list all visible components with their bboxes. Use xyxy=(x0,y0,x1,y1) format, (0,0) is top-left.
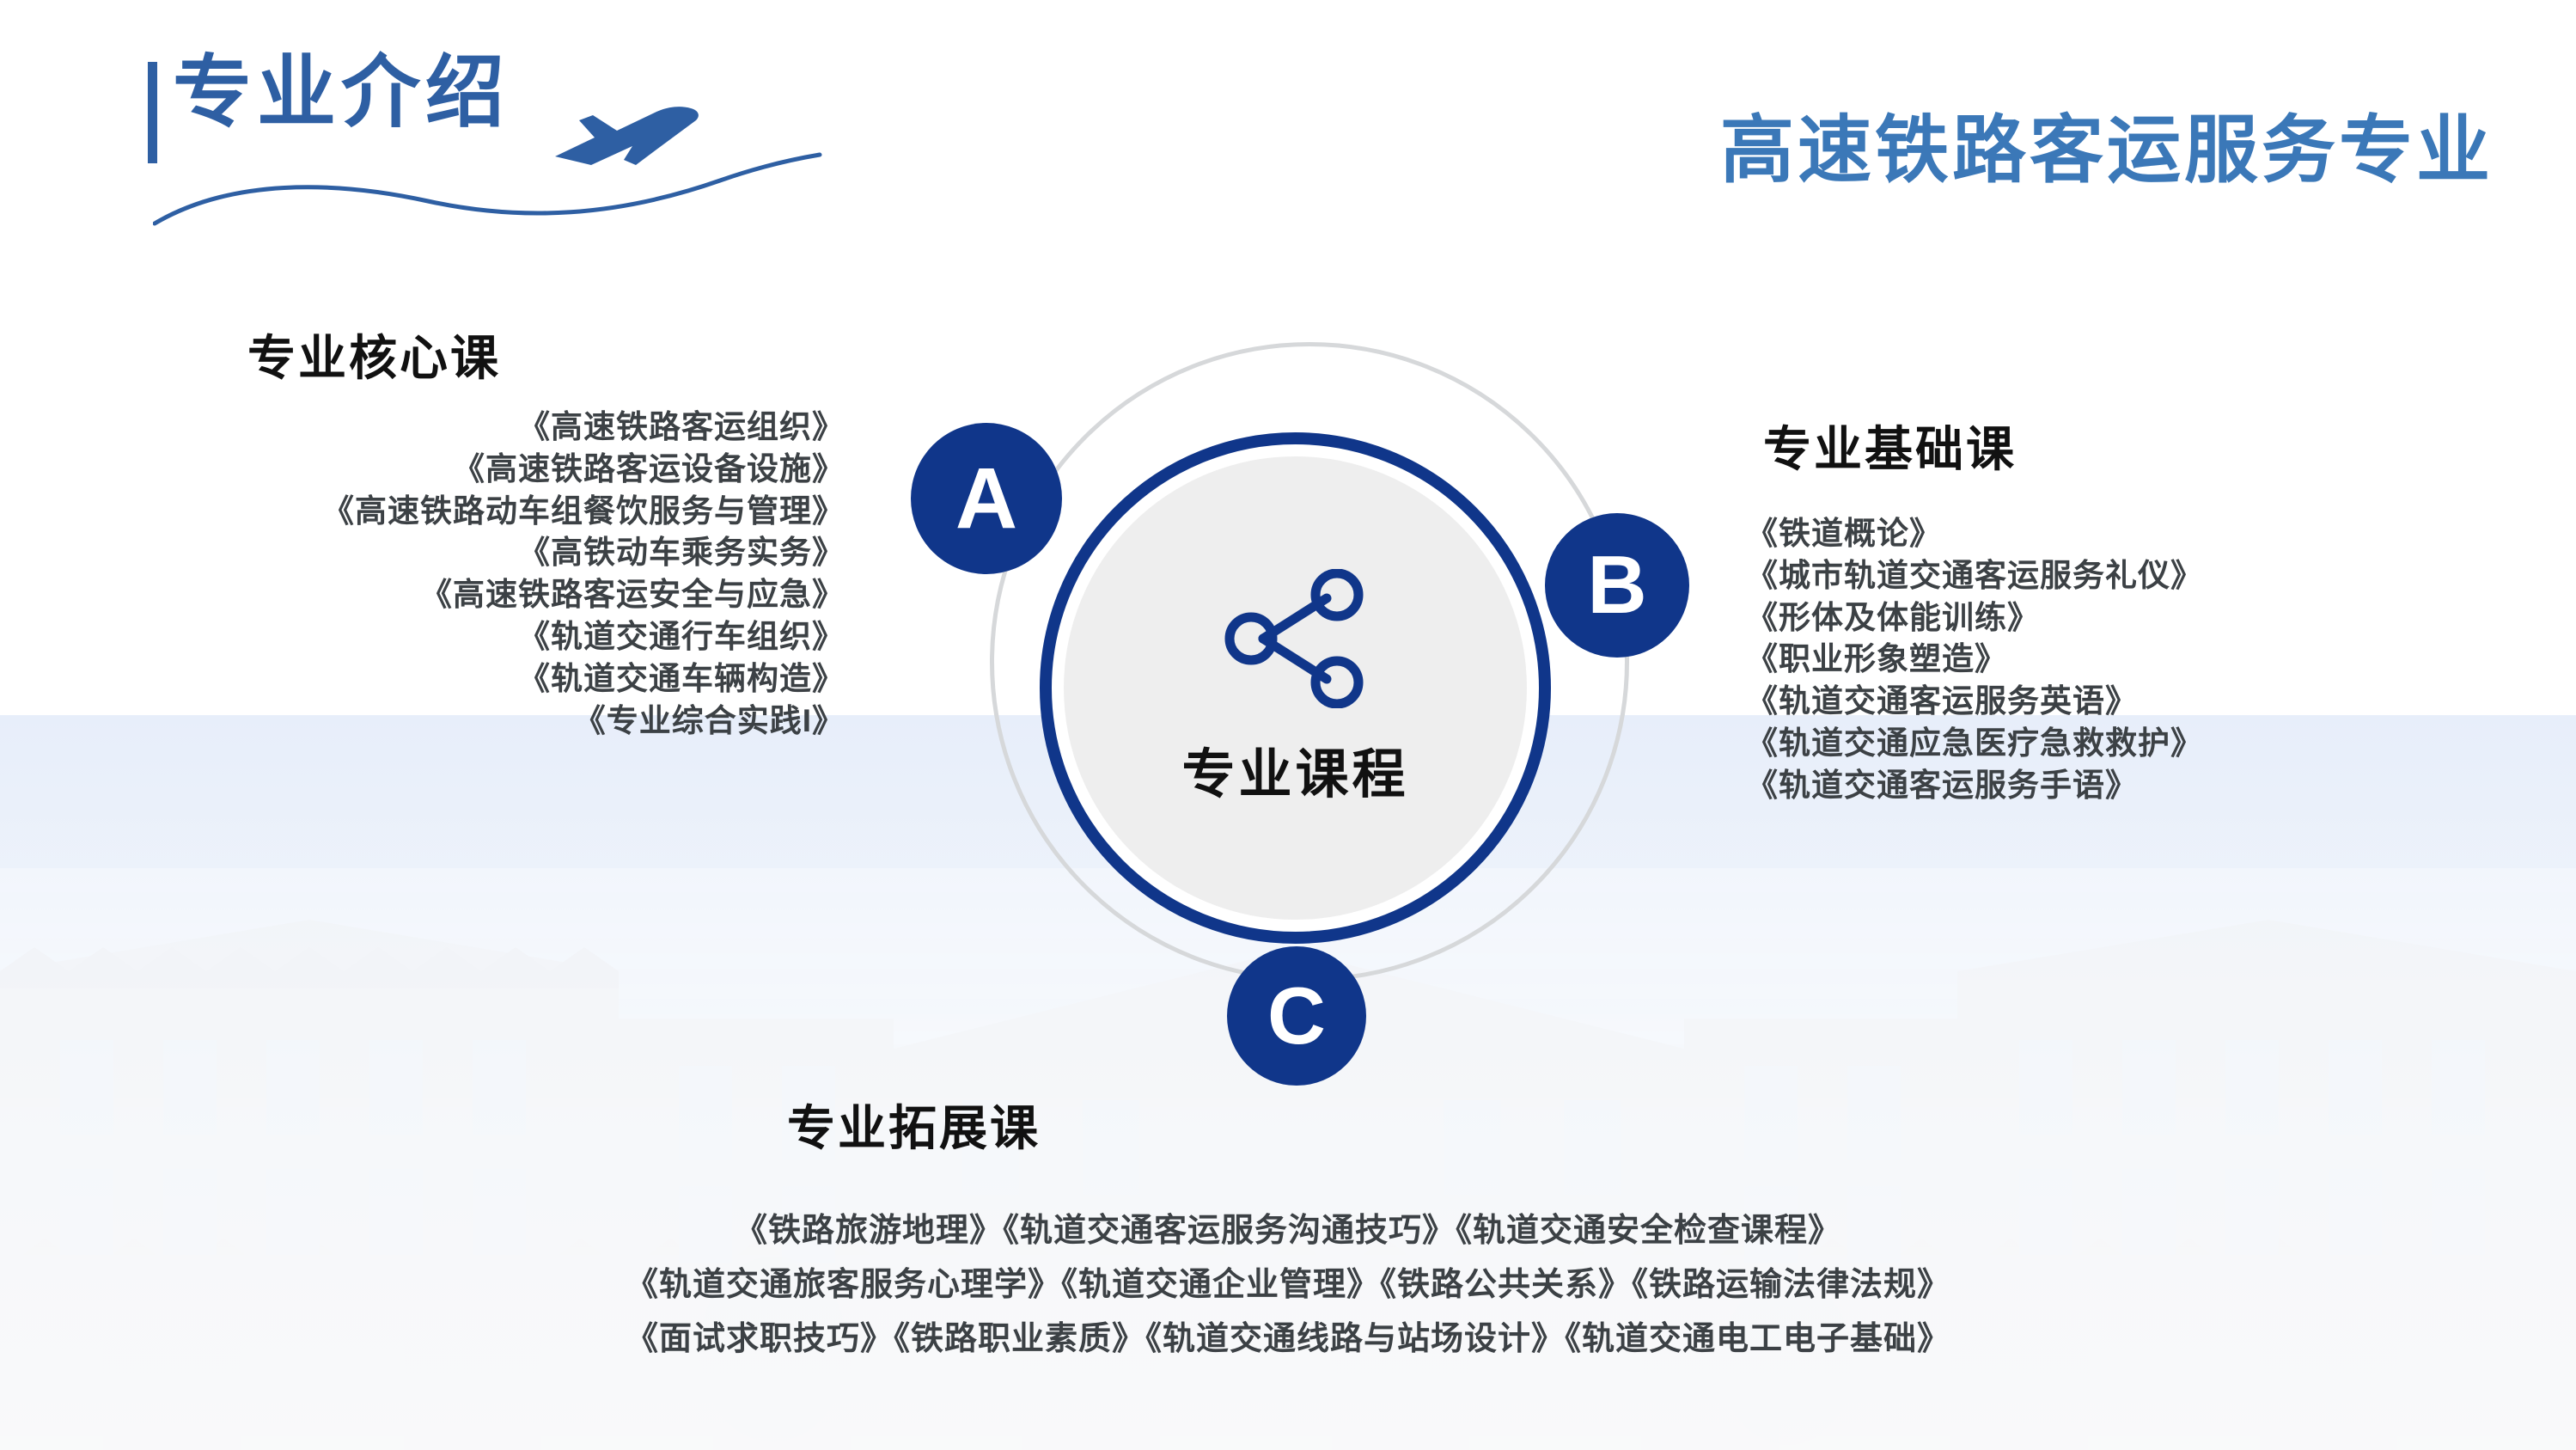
share-network-icon xyxy=(1224,569,1368,708)
course-item: 《职业形象塑造》 xyxy=(1727,639,2500,681)
extended-courses-rows: 《铁路旅游地理》《轨道交通客运服务沟通技巧》《轨道交通安全检查课程》 《轨道交通… xyxy=(0,1204,2576,1367)
course-item: 《高铁动车乘务实务》 xyxy=(0,532,864,574)
program-title: 高速铁路客运服务专业 xyxy=(1720,112,2494,189)
extended-courses-heading: 专业拓展课 xyxy=(787,1090,2576,1159)
badge-a[interactable]: A xyxy=(911,423,1062,574)
course-item: 《轨道交通客运服务手语》 xyxy=(1727,765,2500,807)
course-row: 《铁路旅游地理》《轨道交通客运服务沟通技巧》《轨道交通安全检查课程》 xyxy=(0,1204,2576,1258)
header-wave-underline xyxy=(153,144,823,239)
course-item: 《高速铁路动车组餐饮服务与管理》 xyxy=(0,491,864,533)
course-item: 《高速铁路客运设备设施》 xyxy=(0,449,864,491)
page-header: 专业介绍 高速铁路客运服务专业 xyxy=(0,0,2576,223)
badge-c-letter: C xyxy=(1267,976,1326,1056)
course-item: 《高速铁路客运安全与应急》 xyxy=(0,574,864,616)
badge-a-letter: A xyxy=(955,456,1017,541)
course-row: 《面试求职技巧》《铁路职业素质》《轨道交通线路与站场设计》《轨道交通电工电子基础… xyxy=(0,1312,2576,1367)
course-item: 《专业综合实践I》 xyxy=(0,701,864,743)
course-item: 《高速铁路客运组织》 xyxy=(0,407,864,449)
course-item: 《轨道交通应急医疗急救救护》 xyxy=(1727,723,2500,765)
course-item: 《轨道交通客运服务英语》 xyxy=(1727,681,2500,723)
diagram-center-label: 专业课程 xyxy=(1181,731,1408,808)
badge-b[interactable]: B xyxy=(1545,513,1689,658)
course-item: 《轨道交通行车组织》 xyxy=(0,616,864,658)
badge-b-letter: B xyxy=(1587,544,1646,627)
course-row: 《轨道交通旅客服务心理学》《轨道交通企业管理》《铁路公共关系》《铁路运输法律法规… xyxy=(0,1258,2576,1312)
course-structure-diagram: 专业课程 A B C xyxy=(924,321,1701,1103)
diagram-core: 专业课程 xyxy=(1064,456,1527,920)
section-label: 专业介绍 xyxy=(173,53,510,132)
basic-courses-block: 专业基础课 《铁道概论》 《城市轨道交通客运服务礼仪》 《形体及体能训练》 《职… xyxy=(1727,411,2500,807)
course-item: 《轨道交通车辆构造》 xyxy=(0,658,864,701)
course-item: 《城市轨道交通客运服务礼仪》 xyxy=(1727,555,2500,597)
core-courses-block: 专业核心课 《高速铁路客运组织》 《高速铁路客运设备设施》 《高速铁路动车组餐饮… xyxy=(0,320,864,743)
badge-c[interactable]: C xyxy=(1227,946,1366,1086)
course-item: 《铁道概论》 xyxy=(1727,513,2500,555)
core-courses-heading: 专业核心课 xyxy=(0,320,501,389)
extended-courses-block: 专业拓展课 《铁路旅游地理》《轨道交通客运服务沟通技巧》《轨道交通安全检查课程》… xyxy=(0,1090,2576,1367)
basic-courses-heading: 专业基础课 xyxy=(1763,411,2500,480)
course-item: 《形体及体能训练》 xyxy=(1727,597,2500,639)
